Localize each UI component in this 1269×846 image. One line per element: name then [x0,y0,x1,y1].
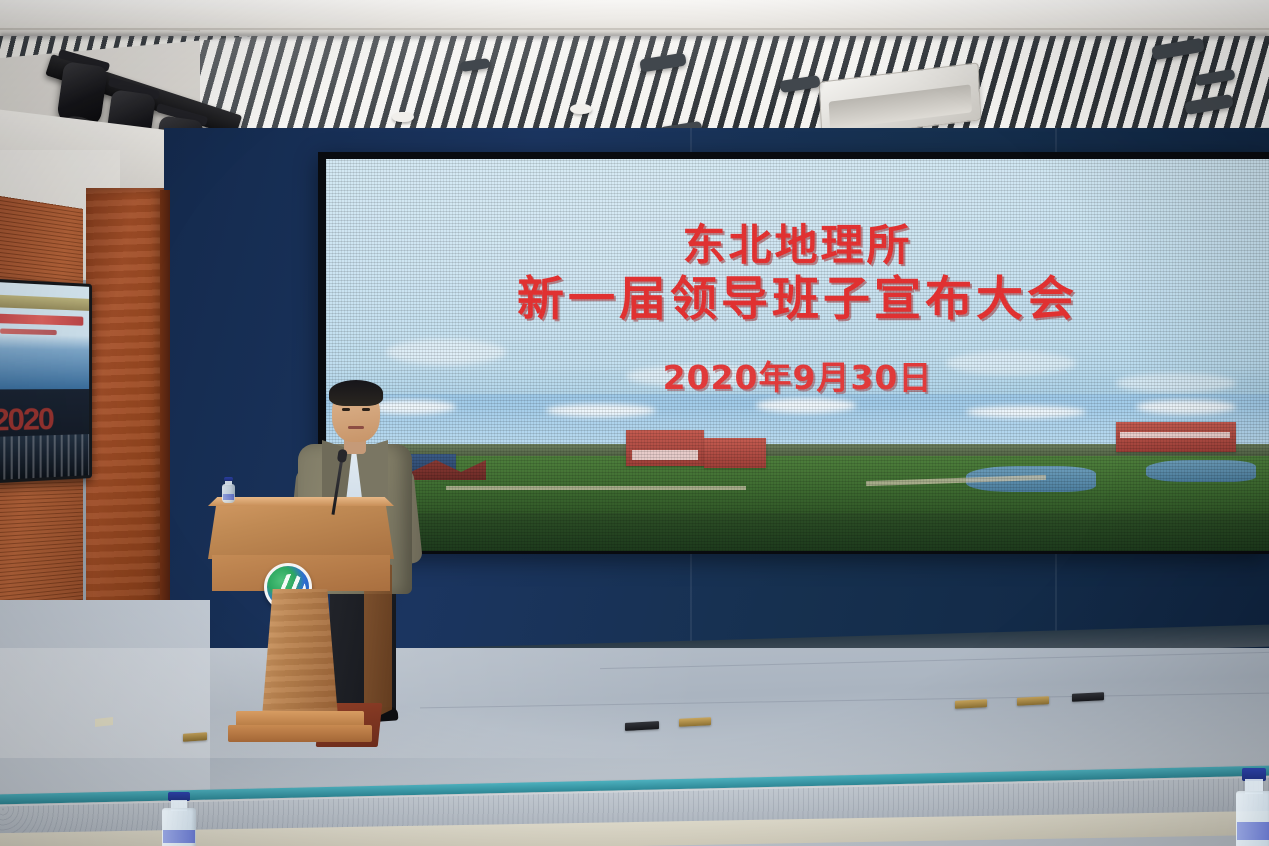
screen-date-text: 2020年9月30日 [326,351,1269,399]
building-window-band [632,450,698,460]
ceiling-front-beam [0,0,1269,30]
campus-building [704,438,766,468]
floor-outlet-box[interactable] [183,732,207,742]
floor-outlet-box[interactable] [1017,696,1049,706]
campus-building [626,430,704,466]
screen-title-line2: 新一届领导班子宣布大会 [326,271,1269,329]
bottle-label [1237,822,1269,840]
speaker-eye [362,408,370,411]
podium-top [208,497,394,559]
campus-path [446,486,746,490]
speaker-eye [342,408,350,411]
cloud [966,406,1086,418]
side-monitor[interactable]: 2020 [0,279,92,484]
water-bottle-on-podium[interactable] [222,477,235,503]
campus-lake [1146,460,1256,482]
led-screen[interactable]: 东北地理所 新一届领导班子宣布大会 2020年9月30日 [326,159,1269,551]
podium-top-edge [208,497,394,506]
cloud [546,404,656,417]
podium-wood-grain [262,589,338,717]
sprinkler-head-icon [392,112,414,122]
bottle-label [223,494,235,500]
water-bottle-foreground-right[interactable] [1236,768,1269,846]
bottle-label [163,830,194,843]
podium-front-face [212,555,390,591]
screen-title-line1: 东北地理所 [326,221,1269,271]
podium-base-lower [228,725,372,742]
cloud [756,398,856,413]
water-bottle-foreground-left[interactable] [162,792,196,846]
conference-hall-photo: 2020 东北地理所 新一届领导班子宣布大会 2020年9月30日 [0,0,1269,846]
monitor-upper-image [0,282,89,389]
podium-lectern [208,497,394,753]
floor-outlet-box[interactable] [679,717,711,727]
speaker-mouth [348,426,364,429]
monitor-band [0,295,89,311]
monitor-audience-strip [0,434,89,480]
screen-title-block: 东北地理所 新一届领导班子宣布大会 2020年9月30日 [326,221,1269,399]
panorama-foreground [326,513,1269,551]
ceiling-slab-shadow [0,33,1269,39]
speaker-hair [329,380,383,406]
monitor-title-text-blur [0,314,84,325]
sprinkler-head-icon [570,104,592,114]
cloud [1136,400,1236,414]
floor-outlet-box[interactable] [1072,692,1104,702]
podium-column [262,589,338,717]
campus-panorama-image [326,394,1269,551]
monitor-overlay-text: 2020 [0,402,53,439]
building-window-band [1120,432,1230,438]
floor-outlet-box[interactable] [955,699,987,709]
monitor-date-text-blur [0,328,57,335]
